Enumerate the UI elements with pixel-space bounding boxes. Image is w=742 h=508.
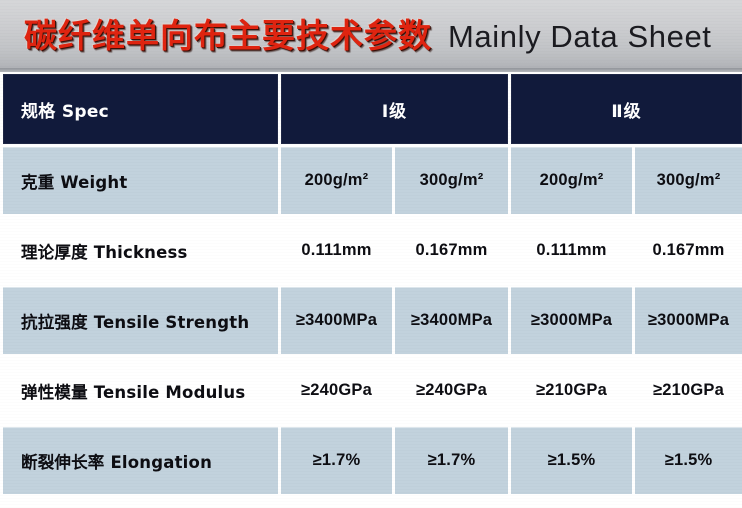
table-row: 理论厚度 Thickness 0.111mm 0.167mm 0.111mm 0…: [2, 216, 742, 286]
cell-thickness-grade1-200: 0.111mm: [280, 216, 394, 286]
title-banner-content: 碳纤维单向布主要技术参数 Mainly Data Sheet: [24, 9, 712, 57]
cell-tensile-strength-grade2-300: ≥3000MPa: [634, 286, 742, 356]
cell-elongation-grade2-300: ≥1.5%: [634, 426, 742, 496]
table-header-row: 规格 Spec Ⅰ级 Ⅱ级: [2, 73, 742, 146]
cell-weight-grade2-300: 300g/m²: [634, 146, 742, 216]
table-row: 弹性模量 Tensile Modulus ≥240GPa ≥240GPa ≥21…: [2, 356, 742, 426]
row-label-weight: 克重 Weight: [2, 146, 280, 216]
cell-tensile-modulus-grade1-200: ≥240GPa: [280, 356, 394, 426]
cell-tensile-modulus-grade2-200: ≥210GPa: [510, 356, 634, 426]
cell-tensile-strength-grade1-300: ≥3400MPa: [394, 286, 510, 356]
row-label-thickness: 理论厚度 Thickness: [2, 216, 280, 286]
table-header: 规格 Spec Ⅰ级 Ⅱ级: [2, 73, 742, 146]
row-label-tensile-modulus: 弹性模量 Tensile Modulus: [2, 356, 280, 426]
cell-tensile-modulus-grade2-300: ≥210GPa: [634, 356, 742, 426]
spec-table-container: 规格 Spec Ⅰ级 Ⅱ级 克重 Weight 200g/m² 300g/m² …: [0, 72, 742, 508]
header-cell-grade-1: Ⅰ级: [280, 73, 510, 146]
page-title-chinese: 碳纤维单向布主要技术参数: [24, 9, 432, 57]
table-row: 断裂伸长率 Elongation ≥1.7% ≥1.7% ≥1.5% ≥1.5%: [2, 426, 742, 496]
header-cell-grade-2: Ⅱ级: [510, 73, 742, 146]
header-cell-spec: 规格 Spec: [2, 73, 280, 146]
title-banner: 碳纤维单向布主要技术参数 Mainly Data Sheet: [0, 0, 742, 72]
cell-thickness-grade1-300: 0.167mm: [394, 216, 510, 286]
cell-weight-grade1-200: 200g/m²: [280, 146, 394, 216]
datasheet-page: 碳纤维单向布主要技术参数 Mainly Data Sheet 规格 Spec Ⅰ…: [0, 0, 742, 508]
cell-tensile-strength-grade1-200: ≥3400MPa: [280, 286, 394, 356]
table-row: 抗拉强度 Tensile Strength ≥3400MPa ≥3400MPa …: [2, 286, 742, 356]
cell-weight-grade1-300: 300g/m²: [394, 146, 510, 216]
cell-tensile-modulus-grade1-300: ≥240GPa: [394, 356, 510, 426]
page-title-english: Mainly Data Sheet: [448, 19, 712, 55]
table-row: 克重 Weight 200g/m² 300g/m² 200g/m² 300g/m…: [2, 146, 742, 216]
row-label-tensile-strength: 抗拉强度 Tensile Strength: [2, 286, 280, 356]
cell-elongation-grade1-200: ≥1.7%: [280, 426, 394, 496]
cell-thickness-grade2-300: 0.167mm: [634, 216, 742, 286]
cell-tensile-strength-grade2-200: ≥3000MPa: [510, 286, 634, 356]
cell-elongation-grade1-300: ≥1.7%: [394, 426, 510, 496]
table-body: 克重 Weight 200g/m² 300g/m² 200g/m² 300g/m…: [2, 146, 742, 496]
row-label-elongation: 断裂伸长率 Elongation: [2, 426, 280, 496]
spec-table: 规格 Spec Ⅰ级 Ⅱ级 克重 Weight 200g/m² 300g/m² …: [0, 72, 742, 497]
cell-thickness-grade2-200: 0.111mm: [510, 216, 634, 286]
cell-weight-grade2-200: 200g/m²: [510, 146, 634, 216]
cell-elongation-grade2-200: ≥1.5%: [510, 426, 634, 496]
